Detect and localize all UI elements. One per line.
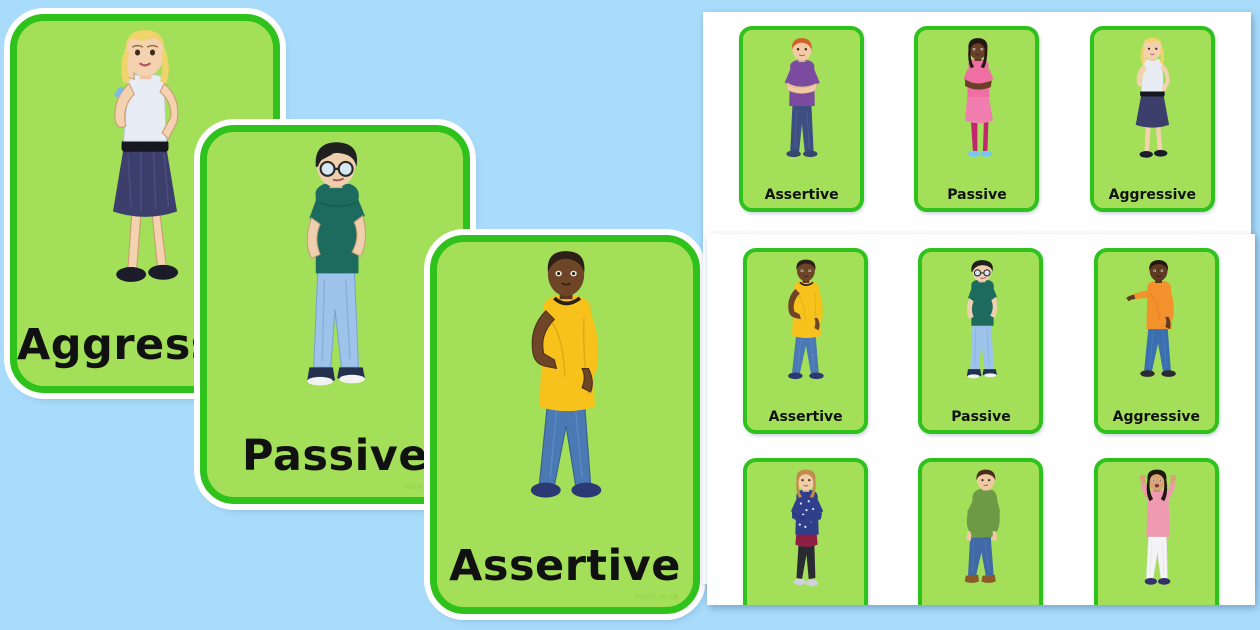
mini-card-caption: Assertive (743, 187, 860, 203)
figure-boy-orange-pointing (1098, 259, 1215, 393)
card-caption: Passive (207, 431, 463, 481)
mini-card-caption: Passive (922, 409, 1039, 425)
flash-card-assertive[interactable]: Assertive twinkl.co.uk (430, 235, 700, 614)
mini-card-aggressive[interactable]: Aggressive (1090, 26, 1215, 212)
figure-girl-pink-skirt-arms-in (918, 37, 1035, 171)
card-caption: Assertive (437, 541, 693, 591)
mini-card-grid: Assertive (707, 234, 1255, 605)
figure-red-hair-boy-arms-crossed (743, 37, 860, 171)
mini-card-assertive[interactable]: Assertive (743, 458, 868, 605)
printed-sheet-front[interactable]: Assertive (707, 234, 1255, 605)
figure-woman-yellow-top-hand-on-hip (437, 249, 693, 526)
figure-boy-glasses-looking-down (922, 259, 1039, 393)
mini-card-caption: Aggressive (1094, 187, 1211, 203)
figure-girl-blue-top-arms-crossed (747, 469, 864, 603)
figure-blonde-woman-hands-on-hip (1094, 37, 1211, 171)
mini-card-passive[interactable]: Passive (918, 458, 1043, 605)
figure-boy-glasses-looking-down (207, 139, 463, 416)
mini-card-caption: Passive (918, 187, 1035, 203)
figure-girl-pink-top-arms-up (1098, 469, 1215, 603)
figure-woman-yellow-top-hand-on-hip (747, 259, 864, 393)
mini-card-caption: Assertive (747, 409, 864, 425)
mini-card-assertive[interactable]: Assertive (739, 26, 864, 212)
mini-card-passive[interactable]: Passive (918, 248, 1043, 434)
mini-card-passive[interactable]: Passive (914, 26, 1039, 212)
mini-card-assertive[interactable]: Assertive (743, 248, 868, 434)
watermark: twinkl.co.uk (634, 592, 679, 601)
figure-boy-green-jumper-slouched (922, 469, 1039, 603)
mini-card-caption: Aggressive (1098, 409, 1215, 425)
mini-card-aggressive[interactable]: Aggressive (1094, 248, 1219, 434)
mini-card-aggressive[interactable]: Aggressive (1094, 458, 1219, 605)
